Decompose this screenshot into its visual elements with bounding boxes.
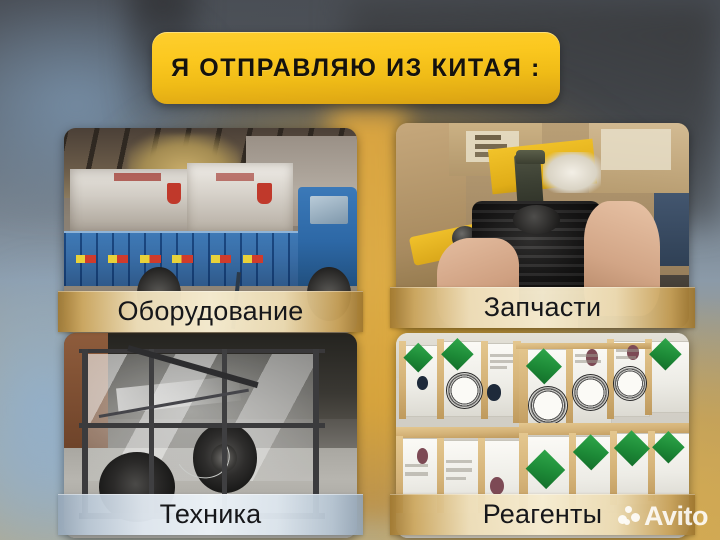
title-banner-text: Я ОТПРАВЛЯЮ ИЗ КИТАЯ :	[171, 54, 541, 83]
avito-dots-icon	[618, 506, 640, 528]
caption-label-equipment: Оборудование	[117, 296, 303, 327]
caption-band-machinery: Техника	[58, 494, 363, 535]
caption-label-reagents: Реагенты	[483, 499, 602, 530]
caption-label-machinery: Техника	[160, 499, 262, 530]
caption-label-spare-parts: Запчасти	[484, 292, 602, 323]
avito-watermark: Avito	[618, 503, 708, 530]
caption-band-spare-parts: Запчасти	[390, 287, 695, 328]
listing-image: Я ОТПРАВЛЯЮ ИЗ КИТАЯ :	[0, 0, 720, 540]
avito-wordmark: Avito	[644, 503, 708, 530]
title-banner: Я ОТПРАВЛЯЮ ИЗ КИТАЯ :	[152, 32, 560, 104]
caption-band-equipment: Оборудование	[58, 291, 363, 332]
